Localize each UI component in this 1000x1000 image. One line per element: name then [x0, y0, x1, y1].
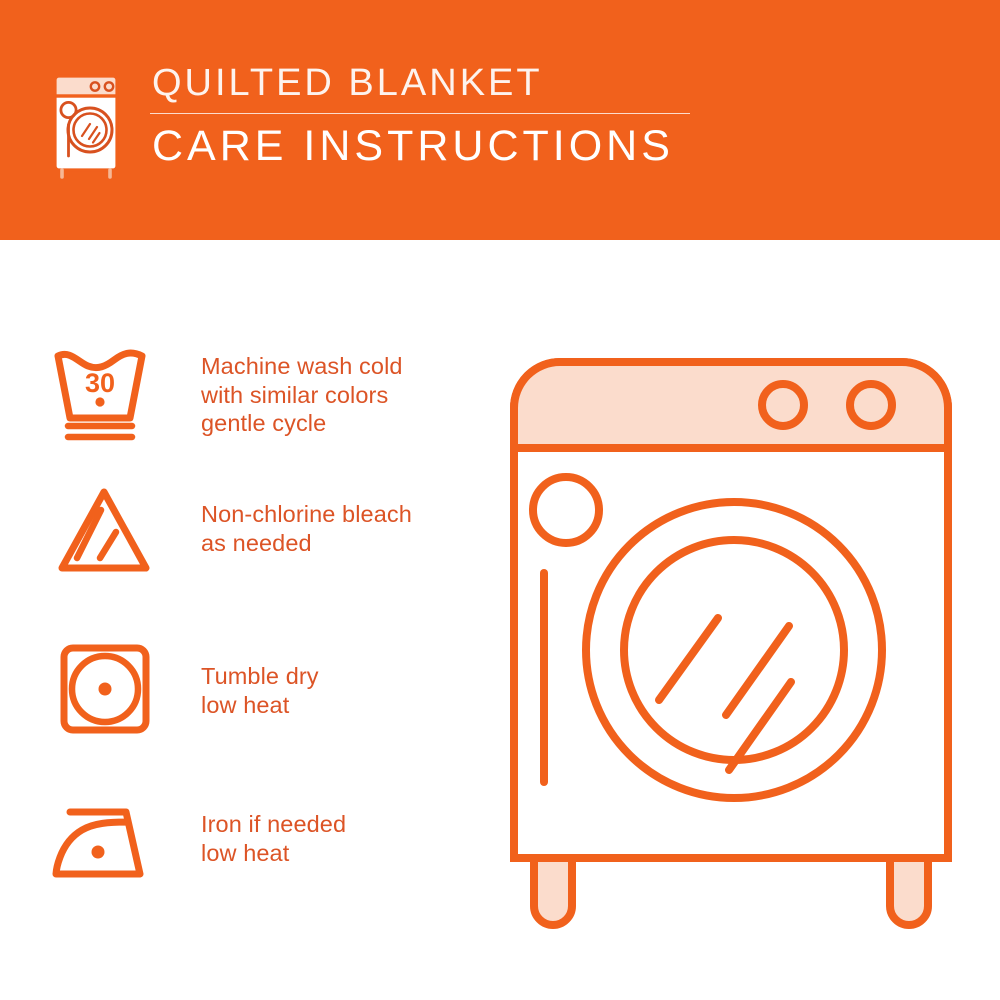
care-instruction-list: 30 Machine wash cold with similar colors… — [0, 240, 490, 1000]
wash-tub-30-gentle-icon: 30 — [44, 340, 164, 444]
care-line: gentle cycle — [201, 409, 403, 438]
care-item-machine-wash: 30 Machine wash cold with similar colors… — [44, 340, 484, 444]
washing-machine-icon — [44, 68, 128, 180]
care-line: Tumble dry — [201, 662, 319, 691]
care-line: as needed — [201, 529, 412, 558]
non-chlorine-bleach-triangle-icon — [44, 478, 164, 582]
care-item-label: Machine wash cold with similar colors ge… — [201, 340, 403, 438]
care-item-label: Non-chlorine bleach as needed — [201, 478, 412, 557]
wash-temperature-label: 30 — [85, 368, 115, 398]
tumble-dry-low-heat-icon — [44, 638, 164, 742]
title-divider — [150, 113, 690, 114]
care-item-bleach: Non-chlorine bleach as needed — [44, 478, 484, 582]
washer-leg — [534, 858, 572, 925]
header-title-group: QUILTED BLANKET CARE INSTRUCTIONS — [150, 62, 690, 170]
care-instructions-infographic: QUILTED BLANKET CARE INSTRUCTIONS 30 Mac… — [0, 0, 1000, 1000]
header-band: QUILTED BLANKET CARE INSTRUCTIONS — [0, 0, 1000, 240]
iron-low-heat-icon — [44, 788, 164, 892]
care-item-label: Iron if needed low heat — [201, 788, 346, 867]
page-title-primary: QUILTED BLANKET — [150, 62, 690, 104]
care-line: low heat — [201, 691, 319, 720]
care-item-label: Tumble dry low heat — [201, 638, 319, 719]
care-item-tumble-dry: Tumble dry low heat — [44, 638, 484, 742]
care-line: Iron if needed — [201, 810, 346, 839]
care-line: with similar colors — [201, 381, 403, 410]
care-line: Machine wash cold — [201, 352, 403, 381]
washer-leg — [890, 858, 928, 925]
care-line: Non-chlorine bleach — [201, 500, 412, 529]
header-content: QUILTED BLANKET CARE INSTRUCTIONS — [44, 62, 690, 180]
care-item-iron: Iron if needed low heat — [44, 788, 484, 892]
front-load-washing-machine-illustration — [486, 330, 976, 940]
page-title-secondary: CARE INSTRUCTIONS — [150, 122, 690, 170]
care-line: low heat — [201, 839, 346, 868]
